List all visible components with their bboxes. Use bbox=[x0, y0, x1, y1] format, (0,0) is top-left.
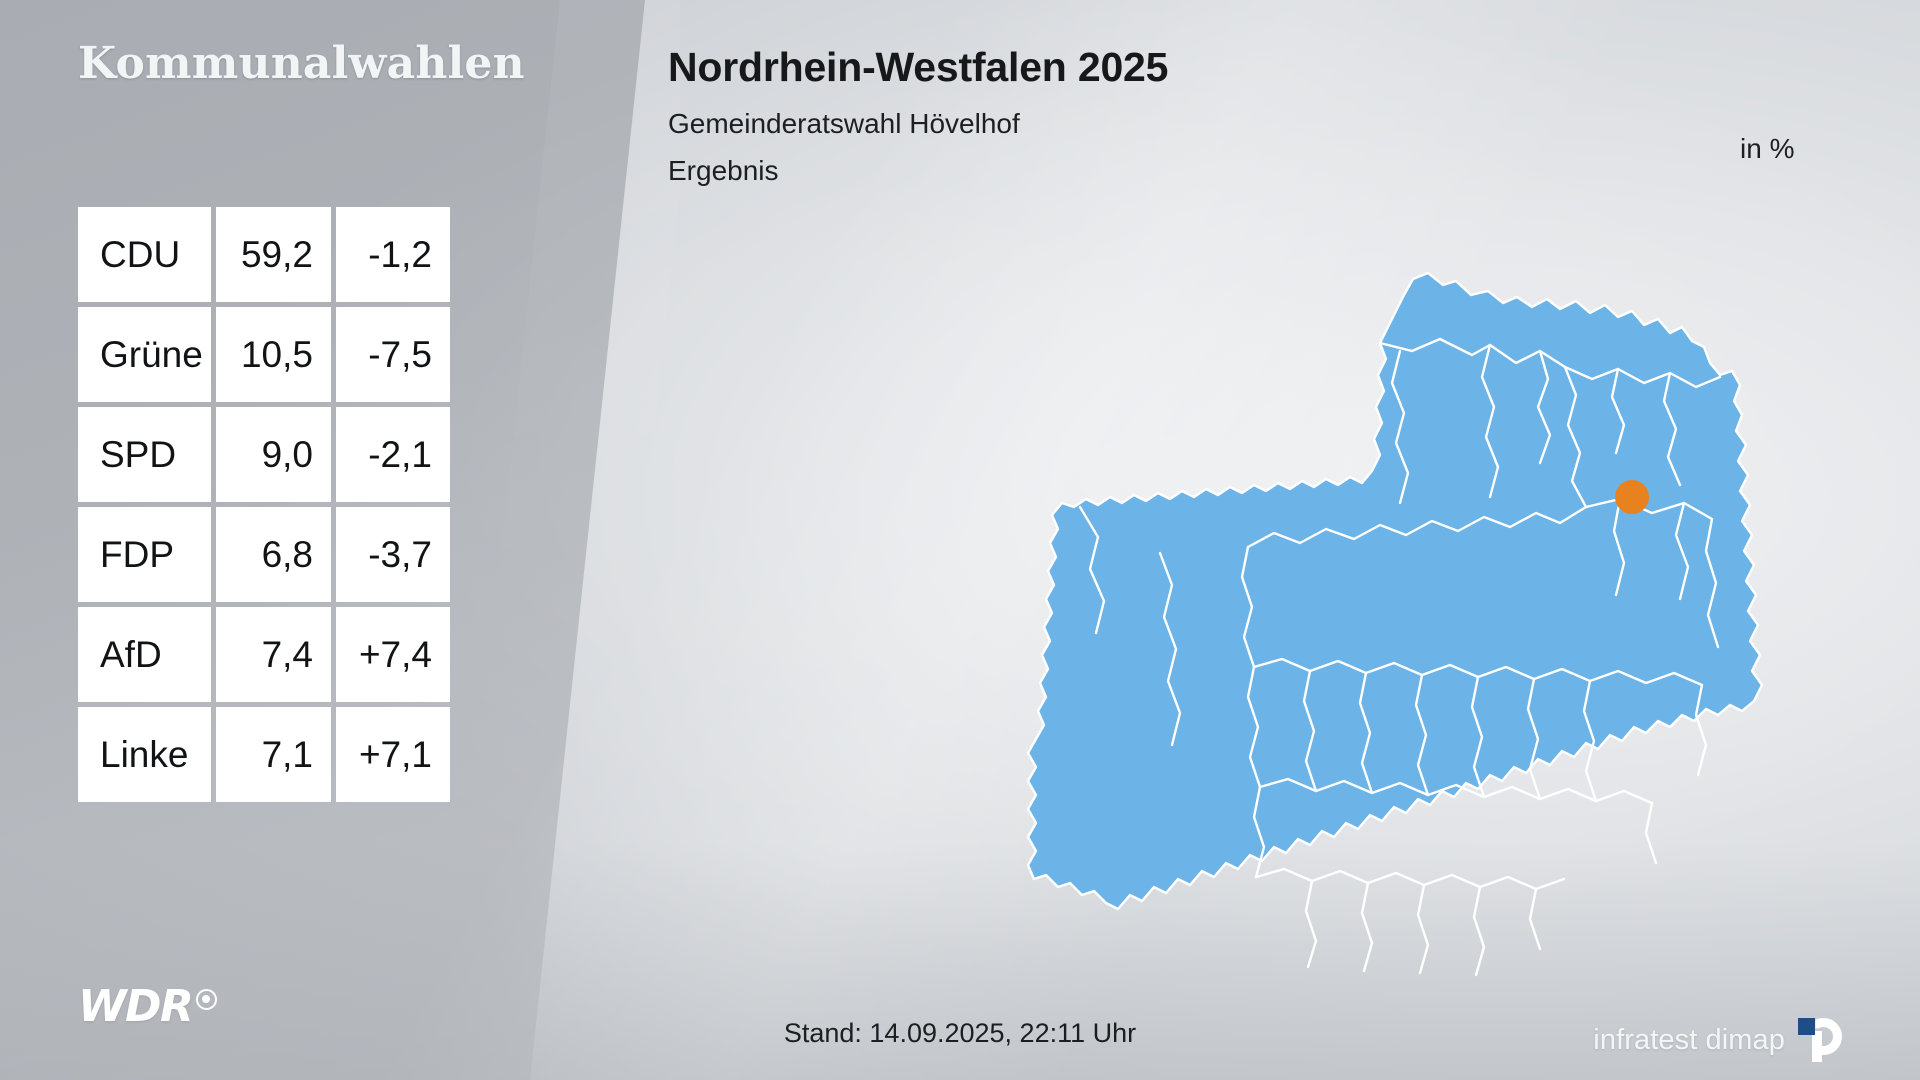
table-row: Linke7,1+7,1 bbox=[78, 707, 450, 802]
cell-party-name: SPD bbox=[78, 407, 211, 502]
cell-party-name: Grüne bbox=[78, 307, 211, 402]
cell-vote-change: -2,1 bbox=[336, 407, 450, 502]
page-title: Kommunalwahlen bbox=[78, 38, 525, 89]
cell-vote-share: 9,0 bbox=[216, 407, 331, 502]
cell-vote-change: -3,7 bbox=[336, 507, 450, 602]
header-caption: Ergebnis bbox=[668, 155, 1168, 187]
cell-party-name: AfD bbox=[78, 607, 211, 702]
table-row: AfD7,4+7,4 bbox=[78, 607, 450, 702]
cell-vote-change: +7,4 bbox=[336, 607, 450, 702]
partner-name: infratest dimap bbox=[1593, 1024, 1785, 1057]
map-marker-hoevelhof bbox=[1615, 480, 1649, 514]
header-title: Nordrhein-Westfalen 2025 bbox=[668, 44, 1168, 91]
dimap-square-shape bbox=[1798, 1018, 1815, 1035]
cell-vote-share: 7,4 bbox=[216, 607, 331, 702]
cell-vote-share: 10,5 bbox=[216, 307, 331, 402]
ard-circle-icon bbox=[196, 989, 217, 1010]
header-block: Nordrhein-Westfalen 2025 Gemeinderatswah… bbox=[668, 44, 1168, 187]
dimap-mark-icon bbox=[1798, 1018, 1842, 1062]
cell-vote-share: 59,2 bbox=[216, 207, 331, 302]
unit-label: in % bbox=[1740, 133, 1794, 165]
cell-vote-share: 6,8 bbox=[216, 507, 331, 602]
results-table: CDU59,2-1,2Grüne10,5-7,5SPD9,0-2,1FDP6,8… bbox=[78, 207, 450, 802]
table-row: CDU59,2-1,2 bbox=[78, 207, 450, 302]
cell-party-name: Linke bbox=[78, 707, 211, 802]
table-row: Grüne10,5-7,5 bbox=[78, 307, 450, 402]
table-row: FDP6,8-3,7 bbox=[78, 507, 450, 602]
cell-vote-change: +7,1 bbox=[336, 707, 450, 802]
cell-vote-change: -1,2 bbox=[336, 207, 450, 302]
cell-party-name: FDP bbox=[78, 507, 211, 602]
dimap-stem-shape bbox=[1812, 1031, 1822, 1062]
cell-party-name: CDU bbox=[78, 207, 211, 302]
map-svg bbox=[1020, 255, 1800, 1015]
map-nordrhein-westfalen bbox=[1020, 255, 1800, 1015]
header-subtitle: Gemeinderatswahl Hövelhof bbox=[668, 108, 1168, 140]
cell-vote-share: 7,1 bbox=[216, 707, 331, 802]
infratest-dimap-logo: infratest dimap bbox=[1593, 1018, 1842, 1062]
table-row: SPD9,0-2,1 bbox=[78, 407, 450, 502]
cell-vote-change: -7,5 bbox=[336, 307, 450, 402]
